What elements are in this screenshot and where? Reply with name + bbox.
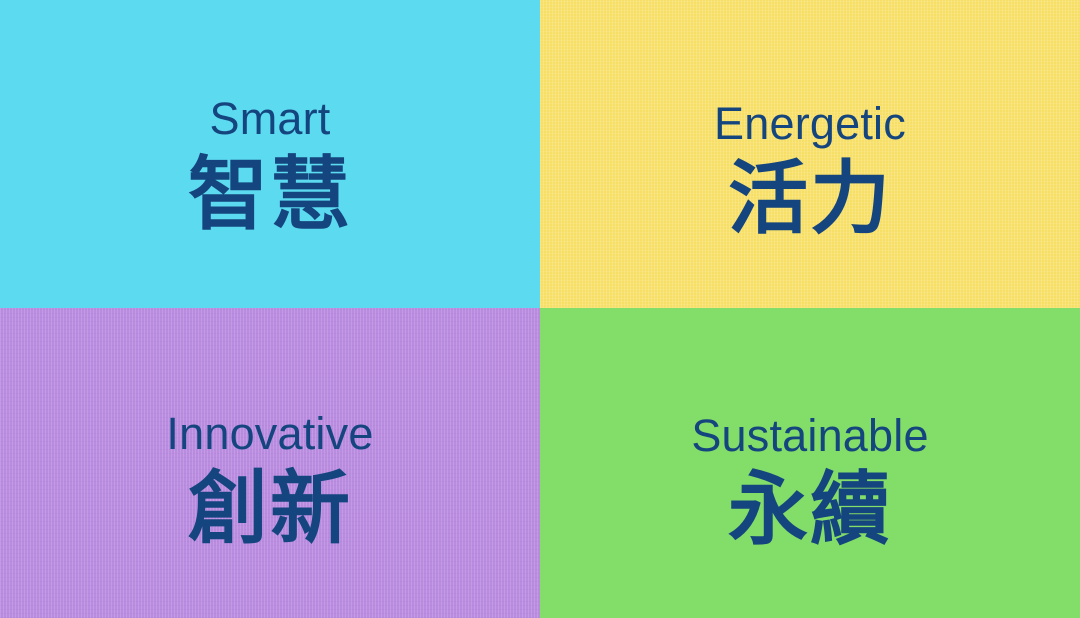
label-en-sustainable: Sustainable bbox=[691, 413, 928, 458]
label-zh-smart: 智慧 bbox=[188, 155, 352, 235]
quadrant-sustainable: Sustainable 永續 bbox=[540, 308, 1080, 618]
quadrant-energetic: Energetic 活力 bbox=[540, 0, 1080, 308]
quadrant-smart: Smart 智慧 bbox=[0, 0, 540, 308]
brand-values-grid: Smart 智慧 Energetic 活力 Innovative 創新 Sust… bbox=[0, 0, 1080, 618]
label-en-smart: Smart bbox=[209, 96, 330, 141]
label-en-innovative: Innovative bbox=[166, 411, 373, 456]
label-en-energetic: Energetic bbox=[714, 101, 906, 146]
label-zh-sustainable: 永續 bbox=[728, 470, 892, 550]
label-zh-innovative: 創新 bbox=[188, 469, 352, 549]
quadrant-innovative: Innovative 創新 bbox=[0, 308, 540, 618]
label-zh-energetic: 活力 bbox=[728, 159, 892, 239]
